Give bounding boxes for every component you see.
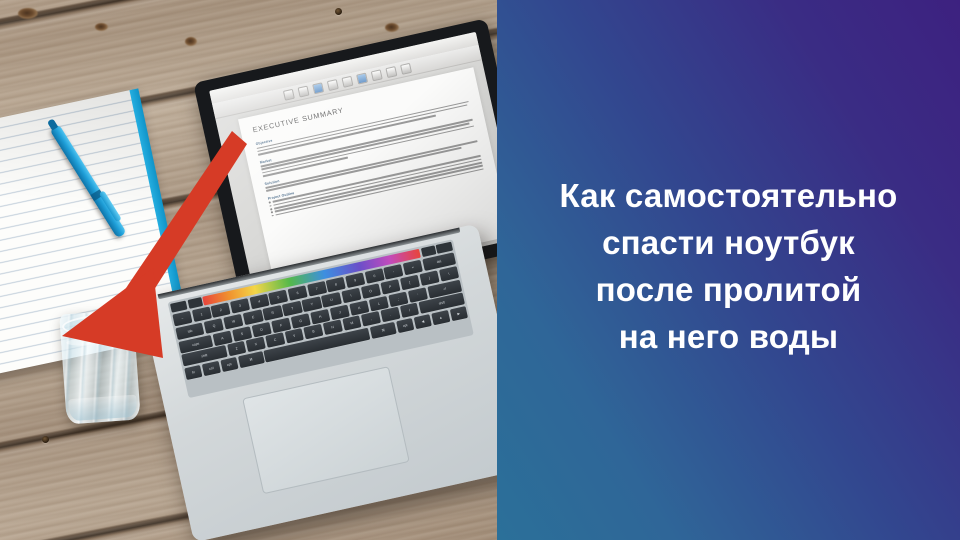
headline-line-1: Как самостоятельно xyxy=(519,173,939,220)
key-fn[interactable]: fn xyxy=(184,365,203,380)
glass-of-water xyxy=(59,310,140,425)
cover-image: EXECUTIVE SUMMARY Objective Market Solut… xyxy=(0,0,960,540)
headline-panel: Как самостоятельно спасти ноутбук после … xyxy=(497,0,960,540)
key-option-left[interactable]: opt xyxy=(220,357,239,372)
new-document-icon[interactable] xyxy=(282,88,294,100)
redo-icon[interactable] xyxy=(356,72,368,84)
key-arrow-right[interactable]: ▶ xyxy=(449,306,468,321)
share-icon[interactable] xyxy=(399,62,411,74)
headline-line-2: спасти ноутбук xyxy=(519,220,939,267)
touchbar-control-strip[interactable] xyxy=(187,297,203,309)
wood-knot xyxy=(95,23,108,31)
key-arrow-updown[interactable]: ▲ xyxy=(432,310,451,325)
headline-line-3: после пролитой xyxy=(519,267,939,314)
photo-panel: EXECUTIVE SUMMARY Objective Market Solut… xyxy=(0,0,497,540)
key-control[interactable]: ctrl xyxy=(202,361,221,376)
format-icon[interactable] xyxy=(370,69,382,81)
touchbar-siri[interactable] xyxy=(420,245,436,257)
laptop-trackpad[interactable] xyxy=(242,366,410,494)
deck-screw xyxy=(42,436,49,443)
key-option-right[interactable]: opt xyxy=(396,318,415,333)
page-title: Как самостоятельно спасти ноутбук после … xyxy=(519,173,939,366)
undo-icon[interactable] xyxy=(341,75,353,87)
print-icon[interactable] xyxy=(326,79,338,91)
wood-knot xyxy=(185,37,197,46)
deck-screw xyxy=(335,8,342,15)
headline-line-4: на него воды xyxy=(519,314,939,361)
open-icon[interactable] xyxy=(297,85,309,97)
key-arrow-left[interactable]: ◀ xyxy=(414,314,433,329)
wood-knot xyxy=(18,8,38,19)
document-bullet xyxy=(270,162,482,211)
save-icon[interactable] xyxy=(312,82,324,94)
wood-knot xyxy=(385,23,399,32)
insert-icon[interactable] xyxy=(385,66,397,78)
